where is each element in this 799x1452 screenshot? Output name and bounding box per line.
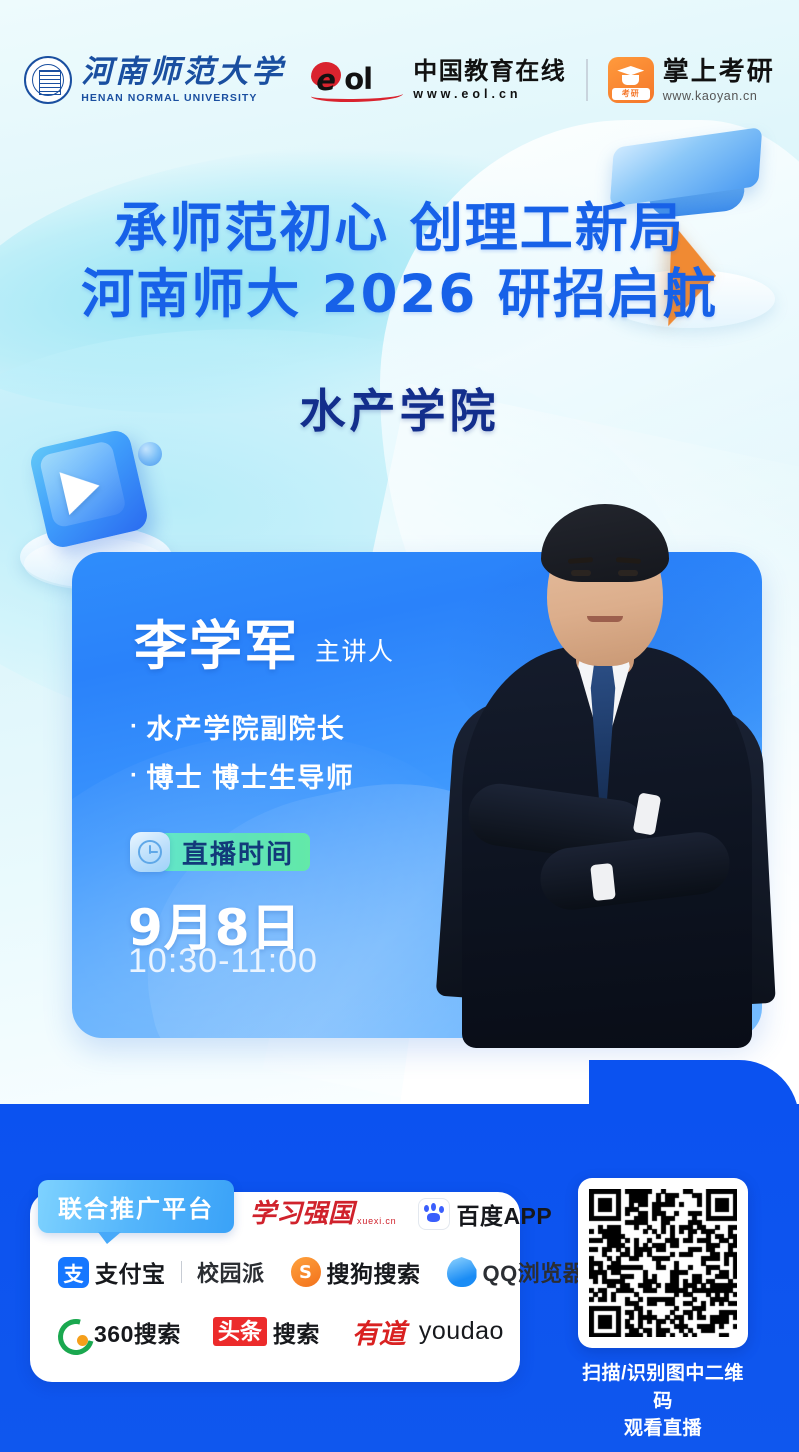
alipay-campus-label: 校园派 <box>197 1256 265 1288</box>
alipay-label: 支付宝 <box>95 1255 166 1289</box>
platform-item-qq-browser[interactable]: QQ浏览器 <box>447 1256 586 1288</box>
university-crest-icon <box>24 56 72 104</box>
live-time-badge: 直播时间 <box>130 832 310 872</box>
alipay-icon: 支 <box>58 1257 89 1288</box>
platform-item-xuexi[interactable]: 学习强国 xuexi.cn <box>250 1201 396 1227</box>
live-time-label: 直播时间 <box>160 833 310 871</box>
platform-row-3: 360搜索 头条 搜索 有道 youdao <box>58 1312 504 1351</box>
speaker-name: 李学军 <box>134 620 299 673</box>
bullet-dot-icon: · <box>130 764 139 788</box>
eol-mark-icon: e ol <box>311 58 405 102</box>
speaker-role: 主讲人 <box>315 632 395 673</box>
qr-code-canvas <box>589 1189 737 1337</box>
qq-browser-icon <box>447 1257 477 1287</box>
clock-icon <box>130 832 170 872</box>
portrait-hair <box>541 504 669 582</box>
platform-row-2: 支 支付宝 校园派 S 搜狗搜索 QQ浏览器 <box>58 1255 585 1289</box>
qr-caption: 扫描/识别图中二维码 观看直播 <box>578 1360 748 1443</box>
list-item: · 水产学院副院长 <box>130 707 354 746</box>
qr-caption-line-1: 扫描/识别图中二维码 <box>578 1360 748 1415</box>
headline-line-1: 承师范初心 创理工新局 <box>0 196 799 262</box>
eol-name-cn: 中国教育在线 <box>413 59 566 85</box>
kaoyan-logo: 考研 掌上考研 www.kaoyan.cn <box>608 57 775 103</box>
university-name-cn: 河南师范大学 <box>81 56 285 89</box>
youdao-icon: 有道 <box>352 1312 406 1351</box>
xuexi-url: xuexi.cn <box>357 1216 396 1227</box>
qr-code-block: 扫描/识别图中二维码 观看直播 <box>578 1178 748 1443</box>
platform-item-alipay[interactable]: 支 支付宝 校园派 <box>58 1255 265 1289</box>
platform-row-1: 学习强国 xuexi.cn 百度APP <box>250 1197 552 1231</box>
speaker-portrait-photo <box>440 492 770 1048</box>
header-logo-bar: 河南师范大学 HENAN NORMAL UNIVERSITY e ol 中国教育… <box>0 45 799 115</box>
qq-browser-label: QQ浏览器 <box>483 1256 586 1288</box>
baidu-paw-shape <box>423 1205 445 1223</box>
cap-base-shape <box>622 75 639 85</box>
qr-code-icon[interactable] <box>578 1178 748 1348</box>
360-search-icon <box>58 1317 88 1347</box>
portrait-eye-right <box>618 570 638 576</box>
university-logo: 河南师范大学 HENAN NORMAL UNIVERSITY <box>24 56 285 104</box>
credential-text: 博士 博士生导师 <box>146 756 354 795</box>
baidu-paw-icon <box>418 1198 450 1230</box>
promotion-platforms-badge: 联合推广平台 <box>38 1180 234 1233</box>
toutiao-icon: 头条 <box>213 1317 267 1346</box>
graduation-cap-icon: 考研 <box>608 57 654 103</box>
eol-logo: e ol 中国教育在线 www.eol.cn <box>311 58 566 102</box>
platform-item-baidu[interactable]: 百度APP <box>418 1197 552 1231</box>
headline-line-2: 河南师大 2026 研招启航 <box>0 262 799 328</box>
toutiao-label: 搜索 <box>273 1315 320 1349</box>
xuexi-qiangguo-logo: 学习强国 xuexi.cn <box>250 1201 396 1227</box>
university-name-en: HENAN NORMAL UNIVERSITY <box>81 92 285 104</box>
portrait-mouth <box>587 616 623 622</box>
bottom-curve-shape <box>589 1060 799 1120</box>
platform-item-360[interactable]: 360搜索 <box>58 1315 181 1349</box>
hero-headline: 承师范初心 创理工新局 河南师大 2026 研招启航 <box>0 196 799 329</box>
qr-caption-line-2: 观看直播 <box>578 1415 748 1443</box>
university-names: 河南师范大学 HENAN NORMAL UNIVERSITY <box>81 56 285 104</box>
live-time-range: 10:30-11:00 <box>128 942 318 981</box>
portrait-eye-left <box>571 570 591 576</box>
xuexi-name: 学习强国 <box>250 1201 354 1227</box>
kaoyan-texts: 掌上考研 www.kaoyan.cn <box>663 57 775 103</box>
eol-url: www.eol.cn <box>413 87 566 101</box>
alipay-separator <box>181 1261 183 1283</box>
eol-texts: 中国教育在线 www.eol.cn <box>413 59 566 101</box>
sogou-icon: S <box>291 1257 321 1287</box>
list-item: · 博士 博士生导师 <box>130 756 354 795</box>
portrait-cuff-b <box>590 863 616 901</box>
eol-swoosh-shape <box>311 88 403 102</box>
360-label: 360搜索 <box>94 1315 181 1349</box>
platform-item-toutiao[interactable]: 头条 搜索 <box>213 1315 320 1349</box>
youdao-label-en: youdao <box>419 1317 504 1346</box>
poster-root: 河南师范大学 HENAN NORMAL UNIVERSITY e ol 中国教育… <box>0 0 799 1452</box>
decor-sphere-b <box>138 442 162 466</box>
kaoyan-badge-text: 考研 <box>612 88 650 100</box>
clock-hand-minute <box>149 851 158 853</box>
header-divider <box>586 59 588 101</box>
speaker-credentials: · 水产学院副院长 · 博士 博士生导师 <box>130 707 354 795</box>
kaoyan-name-cn: 掌上考研 <box>663 57 775 86</box>
baidu-label: 百度APP <box>456 1197 552 1231</box>
speaker-name-row: 李学军 主讲人 <box>134 620 395 673</box>
platform-item-youdao[interactable]: 有道 youdao <box>352 1312 504 1351</box>
kaoyan-url: www.kaoyan.cn <box>663 89 775 103</box>
bullet-dot-icon: · <box>130 715 139 739</box>
credential-text: 水产学院副院长 <box>146 707 345 746</box>
platform-item-sogou[interactable]: S 搜狗搜索 <box>291 1255 421 1289</box>
sogou-label: 搜狗搜索 <box>327 1255 421 1289</box>
